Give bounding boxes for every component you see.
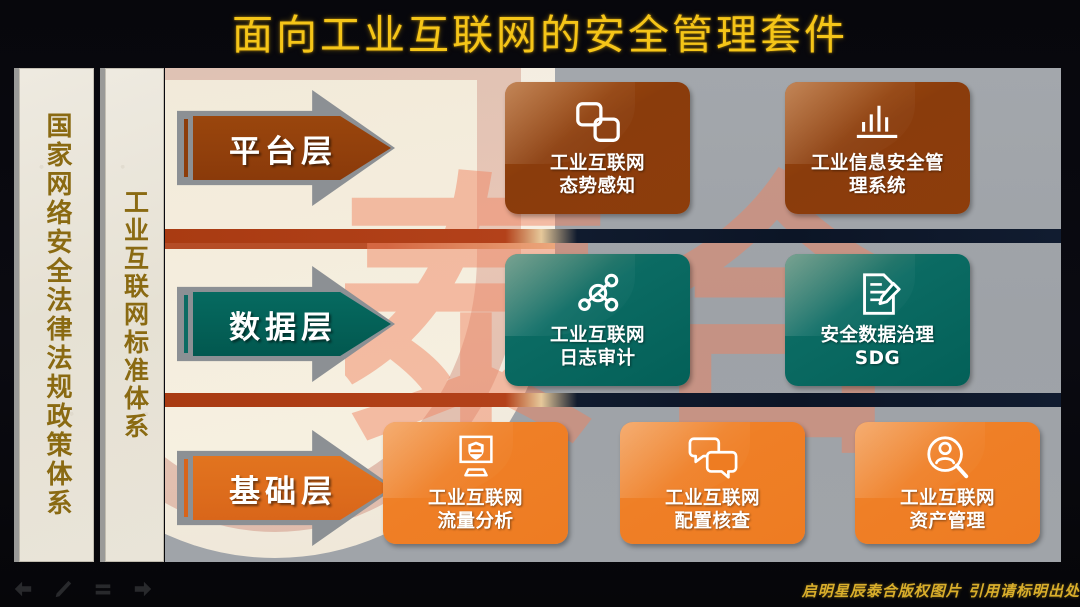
diagram-stage: 泰合 平台层 工业互联网 态势感知 — [165, 68, 1061, 562]
card-title: 工业互联网 配置核查 — [665, 488, 760, 532]
layer-arrow-data[interactable]: 数据层 — [177, 266, 395, 382]
card-title: 工业信息安全管 理系统 — [811, 153, 944, 197]
card-industrial-internet-log-audit[interactable]: 工业互联网 日志审计 — [505, 254, 690, 386]
sidebar-column-law-policy: 国家网络安全法律法规政策体系 — [14, 68, 94, 562]
previous-slide-icon[interactable] — [12, 579, 34, 599]
card-industrial-information-security-management-system[interactable]: 工业信息安全管 理系统 — [785, 82, 970, 214]
card-title: 工业互联网 流量分析 — [428, 488, 523, 532]
chat-bubbles-icon — [686, 433, 740, 483]
bar-chart-icon — [851, 98, 905, 148]
title-bar: 面向工业互联网的安全管理套件 — [0, 0, 1080, 62]
layer-arrow-base-label: 基础层 — [229, 466, 337, 511]
card-industrial-internet-configuration-check[interactable]: 工业互联网 配置核查 — [620, 422, 805, 544]
slide-footer: 启明星辰泰合版权图片 引用请标明出处 — [0, 562, 1080, 607]
presentation-slide: 面向工业互联网的安全管理套件 国家网络安全法律法规政策体系 工业互联网标准体系 … — [0, 0, 1080, 607]
arrow-tail — [184, 459, 188, 517]
pen-tool-icon[interactable] — [52, 579, 74, 599]
arrow-tail — [184, 119, 188, 177]
card-title: 安全数据治理 SDG — [820, 325, 934, 369]
monitor-shield-icon — [449, 433, 503, 483]
card-industrial-internet-traffic-analysis[interactable]: 工业互联网 流量分析 — [383, 422, 568, 544]
presentation-toolbar — [12, 579, 154, 599]
layer-arrow-platform-label: 平台层 — [229, 126, 337, 171]
card-security-data-governance-sdg[interactable]: 安全数据治理 SDG — [785, 254, 970, 386]
sidebar-column-law-policy-label: 国家网络安全法律法规政策体系 — [43, 112, 70, 518]
row-base: 基础层 工业互联网 流量分析 — [165, 408, 1061, 562]
layer-arrow-base[interactable]: 基础层 — [177, 430, 395, 546]
arrow-tail — [184, 295, 188, 353]
layer-arrow-data-label: 数据层 — [229, 302, 337, 347]
layer-arrow-platform[interactable]: 平台层 — [177, 90, 395, 206]
row-data: 数据层 工业互联网 日志审计 — [165, 244, 1061, 404]
slide-menu-icon[interactable] — [92, 579, 114, 599]
page-title: 面向工业互联网的安全管理套件 — [232, 1, 848, 61]
card-industrial-internet-asset-management[interactable]: 工业互联网 资产管理 — [855, 422, 1040, 544]
sidebar-column-standards: 工业互联网标准体系 — [100, 68, 164, 562]
next-slide-icon[interactable] — [132, 579, 154, 599]
overlapping-squares-icon — [571, 98, 625, 148]
card-industrial-internet-situational-awareness[interactable]: 工业互联网 态势感知 — [505, 82, 690, 214]
row-divider-upper — [165, 229, 1061, 243]
card-title: 工业互联网 态势感知 — [550, 153, 645, 197]
document-pencil-icon — [851, 270, 905, 320]
card-title: 工业互联网 资产管理 — [900, 488, 995, 532]
sidebar-column-standards-label: 工业互联网标准体系 — [122, 189, 148, 441]
network-nodes-icon — [571, 270, 625, 320]
copyright-notice: 启明星辰泰合版权图片 引用请标明出处 — [802, 580, 1080, 601]
card-title: 工业互联网 日志审计 — [550, 325, 645, 369]
person-search-icon — [921, 433, 975, 483]
row-platform: 平台层 工业互联网 态势感知 — [165, 68, 1061, 228]
